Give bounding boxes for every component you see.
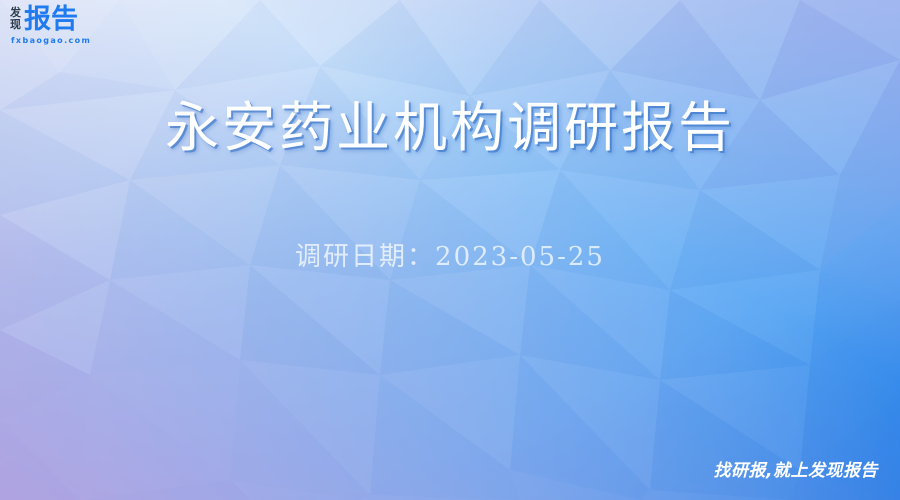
logo-wordmark-row: 发 现 报告 — [10, 6, 91, 34]
logo-char-xian: 现 — [10, 19, 21, 31]
logo-wordmark: 报告 — [24, 6, 78, 34]
report-cover-slide: 发 现 报告 fxbaogao.com 永安药业机构调研报告 调研日期：2023… — [0, 0, 900, 500]
brand-logo[interactable]: 发 现 报告 fxbaogao.com — [10, 6, 91, 46]
logo-domain-text: fxbaogao.com — [11, 36, 91, 46]
logo-stacked-characters: 发 现 — [10, 6, 21, 31]
footer-tagline: 找研报,就上发现报告 — [714, 460, 878, 482]
low-poly-background — [0, 0, 900, 500]
